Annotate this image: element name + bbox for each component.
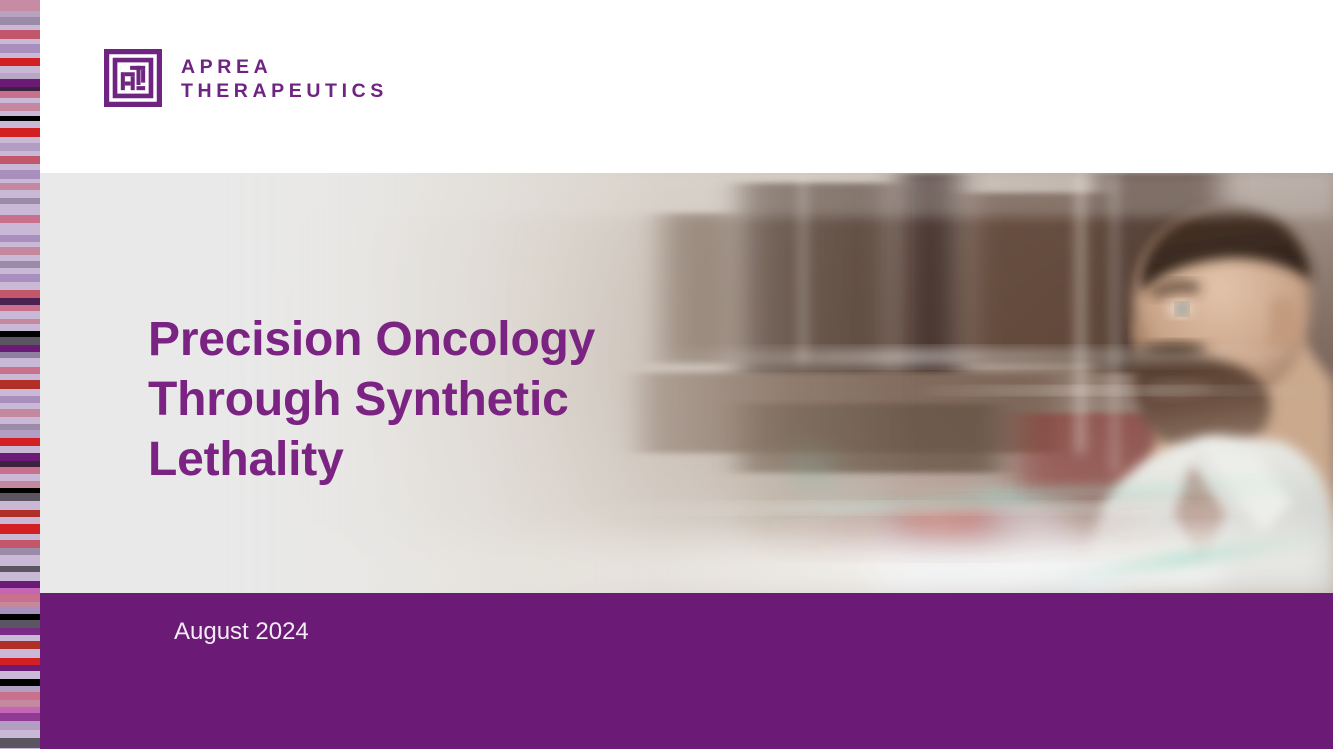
barcode-band <box>0 738 40 749</box>
barcode-band <box>0 30 40 40</box>
barcode-band <box>0 555 40 566</box>
brand-wordmark-line-2: THERAPEUTICS <box>181 81 388 102</box>
barcode-band <box>0 679 40 686</box>
barcode-band <box>0 481 40 488</box>
barcode-band <box>0 417 40 424</box>
barcode-band <box>0 0 40 11</box>
barcode-band <box>0 540 40 548</box>
barcode-band <box>0 79 40 87</box>
hero-band: Precision Oncology Through Synthetic Let… <box>40 173 1333 593</box>
barcode-band <box>0 247 40 255</box>
barcode-band <box>0 190 40 198</box>
page-title-line-1: Precision Oncology <box>148 313 595 366</box>
brand-wordmark: APREA THERAPEUTICS <box>181 55 388 102</box>
barcode-band <box>0 183 40 190</box>
title-slide: APREA THERAPEUTICS <box>0 0 1333 749</box>
barcode-band <box>0 620 40 628</box>
barcode-band <box>0 594 40 602</box>
barcode-band <box>0 121 40 128</box>
decorative-barcode-strip <box>0 0 40 749</box>
barcode-band <box>0 713 40 721</box>
barcode-band <box>0 517 40 525</box>
page-title-line-3: Lethality <box>148 433 344 486</box>
barcode-band <box>0 91 40 98</box>
barcode-band <box>0 446 40 453</box>
page-title-line-2: Through Synthetic <box>148 373 569 426</box>
barcode-band <box>0 510 40 517</box>
barcode-band <box>0 223 40 235</box>
barcode-band <box>0 215 40 223</box>
barcode-band <box>0 235 40 242</box>
barcode-band <box>0 66 40 73</box>
barcode-band <box>0 58 40 66</box>
barcode-band <box>0 290 40 298</box>
barcode-band <box>0 700 40 707</box>
barcode-band <box>0 430 40 438</box>
barcode-band <box>0 204 40 215</box>
barcode-band <box>0 721 40 730</box>
barcode-band <box>0 396 40 404</box>
barcode-band <box>0 572 40 581</box>
barcode-band <box>0 658 40 665</box>
barcode-band <box>0 692 40 700</box>
barcode-band <box>0 628 40 635</box>
barcode-band <box>0 44 40 53</box>
barcode-band <box>0 274 40 282</box>
barcode-band <box>0 409 40 417</box>
page-title: Precision Oncology Through Synthetic Let… <box>148 310 595 490</box>
barcode-band <box>0 380 40 390</box>
barcode-band <box>0 607 40 614</box>
barcode-band <box>0 641 40 649</box>
barcode-band <box>0 367 40 374</box>
barcode-band <box>0 581 40 588</box>
barcode-band <box>0 156 40 164</box>
barcode-band <box>0 524 40 534</box>
barcode-band <box>0 128 40 137</box>
barcode-band <box>0 337 40 345</box>
barcode-band <box>0 548 40 555</box>
barcode-band <box>0 493 40 501</box>
barcode-band <box>0 298 40 305</box>
barcode-band <box>0 649 40 658</box>
header-bar: APREA THERAPEUTICS <box>40 0 1333 173</box>
footer-band: August 2024 <box>40 593 1333 749</box>
barcode-band <box>0 730 40 738</box>
barcode-band <box>0 453 40 461</box>
barcode-band <box>0 324 40 331</box>
barcode-band <box>0 103 40 111</box>
barcode-band <box>0 143 40 151</box>
barcode-band <box>0 467 40 475</box>
barcode-band <box>0 311 40 319</box>
barcode-band <box>0 438 40 447</box>
barcode-band <box>0 358 40 367</box>
barcode-band <box>0 501 40 510</box>
barcode-band <box>0 17 40 25</box>
presentation-date: August 2024 <box>174 618 309 646</box>
barcode-band <box>0 261 40 268</box>
barcode-band <box>0 671 40 679</box>
barcode-band <box>0 282 40 291</box>
brand-logo-lockup: APREA THERAPEUTICS <box>104 49 388 107</box>
barcode-band <box>0 170 40 179</box>
barcode-band <box>0 345 40 352</box>
aprea-maze-monogram-icon <box>104 49 162 107</box>
brand-wordmark-line-1: APREA <box>181 57 388 78</box>
